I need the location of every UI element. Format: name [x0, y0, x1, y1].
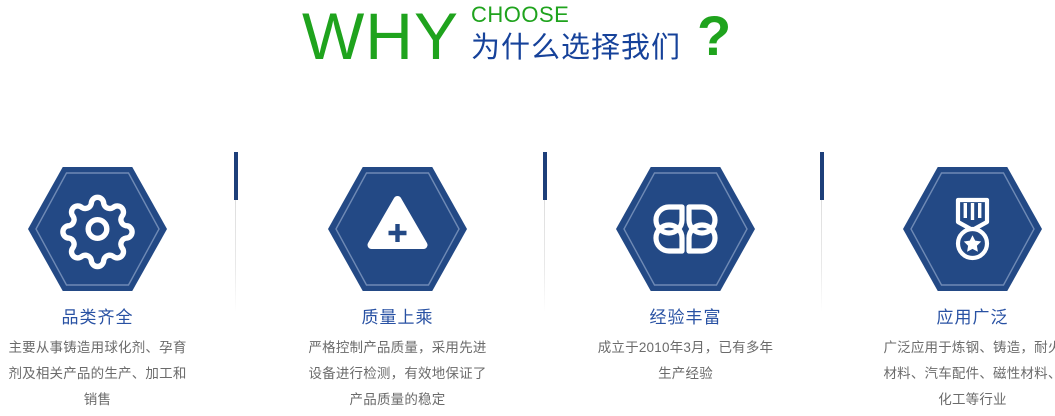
card-description: 广泛应用于炼钢、铸造，耐火材料、汽车配件、磁性材料、化工等行业: [875, 335, 1055, 413]
hexagon-badge: [903, 167, 1042, 291]
feature-card[interactable]: 应用广泛 广泛应用于炼钢、铸造，耐火材料、汽车配件、磁性材料、化工等行业: [875, 150, 1055, 413]
hexagon-badge: [328, 167, 467, 291]
header-question-mark: ?: [697, 6, 731, 72]
section-header: WHY CHOOSE 为什么选择我们 ?: [0, 0, 1055, 96]
feature-card-list: 品类齐全 主要从事铸造用球化剂、孕育剂及相关产品的生产、加工和销售 质量上乘 严…: [0, 150, 1055, 416]
card-title: 应用广泛: [875, 307, 1055, 329]
feature-card[interactable]: 质量上乘 严格控制产品质量，采用先进设备进行检测，有效地保证了产品质量的稳定: [300, 150, 495, 413]
header-text-stack: CHOOSE 为什么选择我们: [471, 0, 681, 66]
feature-card[interactable]: 经验丰富 成立于2010年3月，已有多年生产经验: [588, 150, 783, 387]
feature-card[interactable]: 品类齐全 主要从事铸造用球化剂、孕育剂及相关产品的生产、加工和销售: [0, 150, 195, 413]
card-description: 主要从事铸造用球化剂、孕育剂及相关产品的生产、加工和销售: [0, 335, 195, 413]
card-title: 品类齐全: [0, 307, 195, 329]
card-description: 成立于2010年3月，已有多年生产经验: [588, 335, 783, 387]
medal-icon: [903, 167, 1042, 291]
clover-icon: [616, 167, 755, 291]
card-title: 质量上乘: [300, 307, 495, 329]
gear-icon: [28, 167, 167, 291]
header-inner: WHY CHOOSE 为什么选择我们 ?: [302, 0, 731, 72]
header-chinese-title: 为什么选择我们: [471, 30, 681, 66]
header-why-word: WHY: [302, 0, 459, 72]
card-description: 严格控制产品质量，采用先进设备进行检测，有效地保证了产品质量的稳定: [300, 335, 495, 413]
triangle-plus-icon: [328, 167, 467, 291]
header-choose-word: CHOOSE: [471, 2, 681, 28]
hexagon-badge: [616, 167, 755, 291]
hexagon-badge: [28, 167, 167, 291]
card-title: 经验丰富: [588, 307, 783, 329]
